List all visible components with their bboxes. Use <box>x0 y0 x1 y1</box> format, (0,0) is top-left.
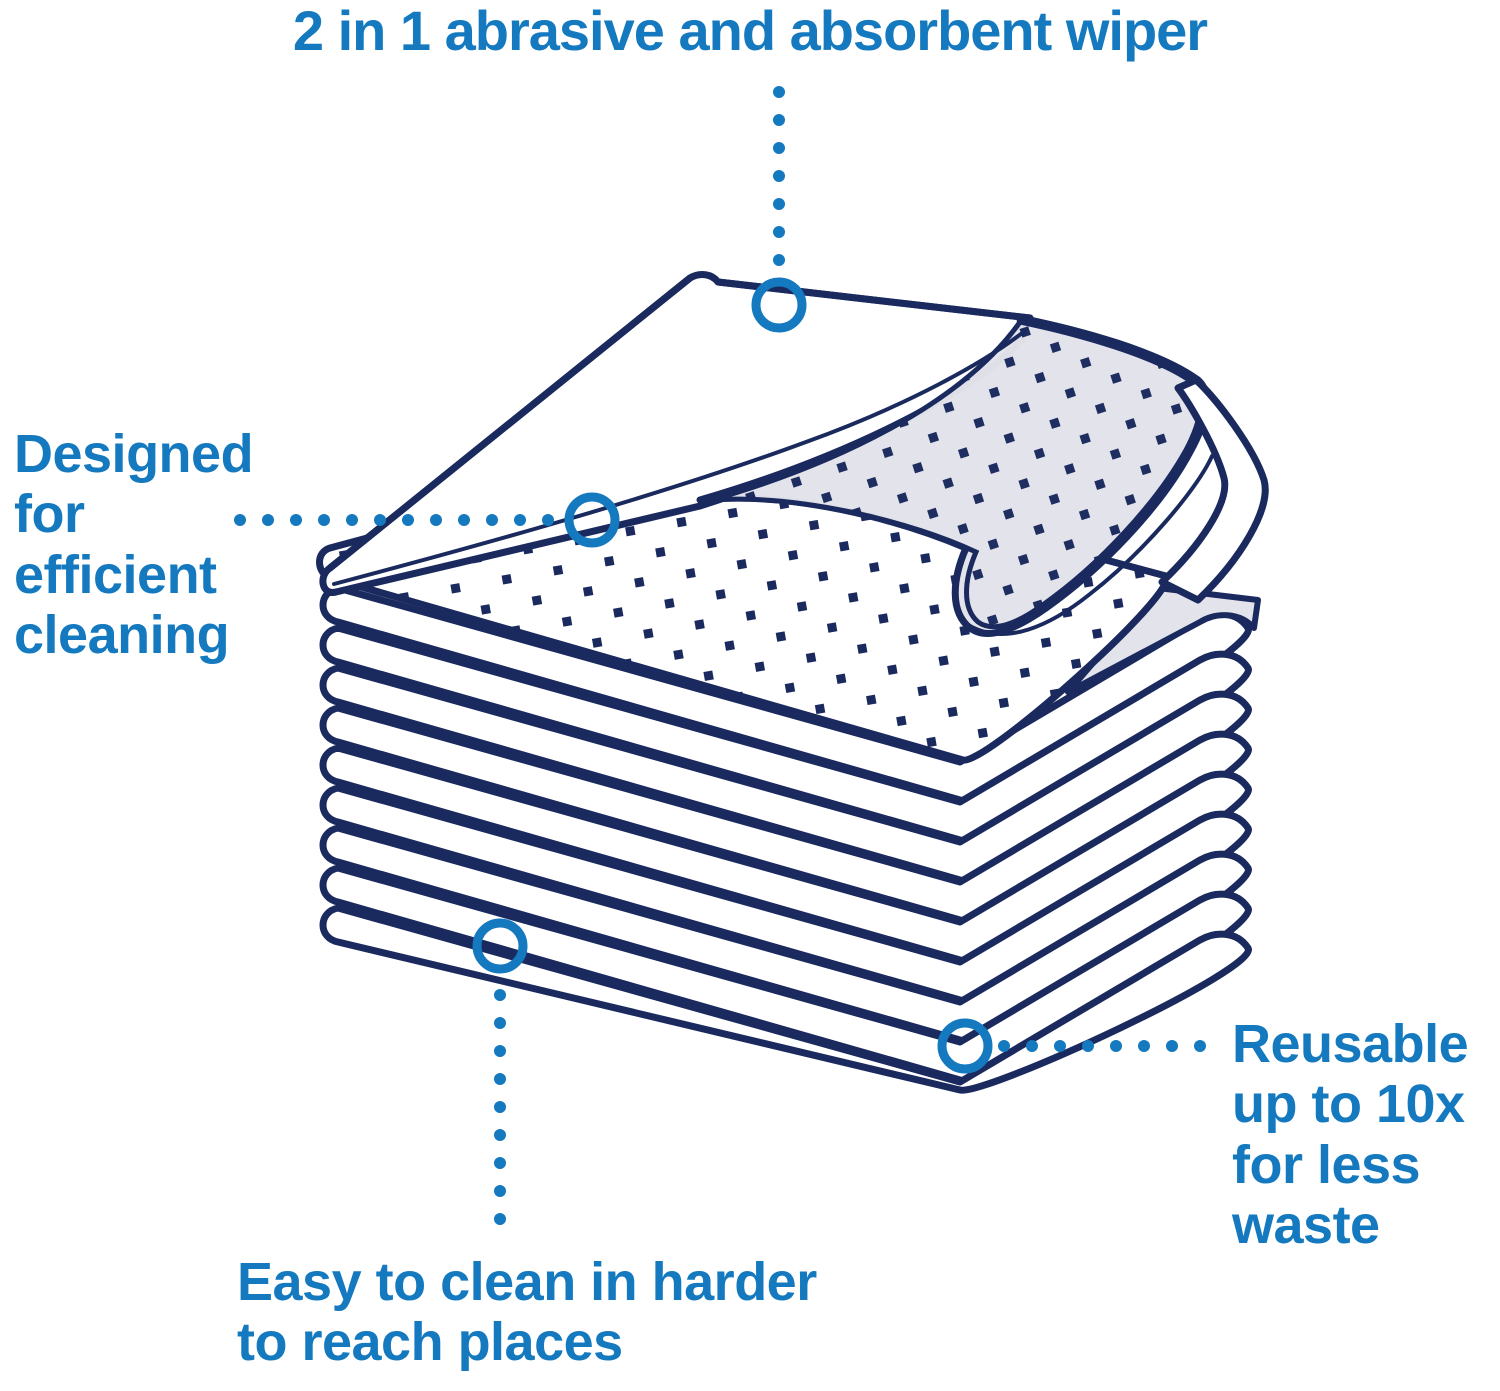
dotted-connector-right <box>998 1040 1206 1052</box>
callout-label-right: Reusable up to 10x for less waste <box>1232 1014 1468 1256</box>
callout-label-left: Designed for efficient cleaning <box>14 424 253 666</box>
product-feature-infographic: 2 in 1 abrasive and absorbent wiper Desi… <box>0 0 1500 1391</box>
callout-label-bottom: Easy to clean in harder to reach places <box>237 1252 817 1373</box>
wiper-stack-group <box>320 275 1266 1091</box>
dotted-connector-bottom <box>494 989 506 1225</box>
callout-label-top: 2 in 1 abrasive and absorbent wiper <box>0 2 1500 60</box>
dotted-connector-top <box>773 86 785 266</box>
